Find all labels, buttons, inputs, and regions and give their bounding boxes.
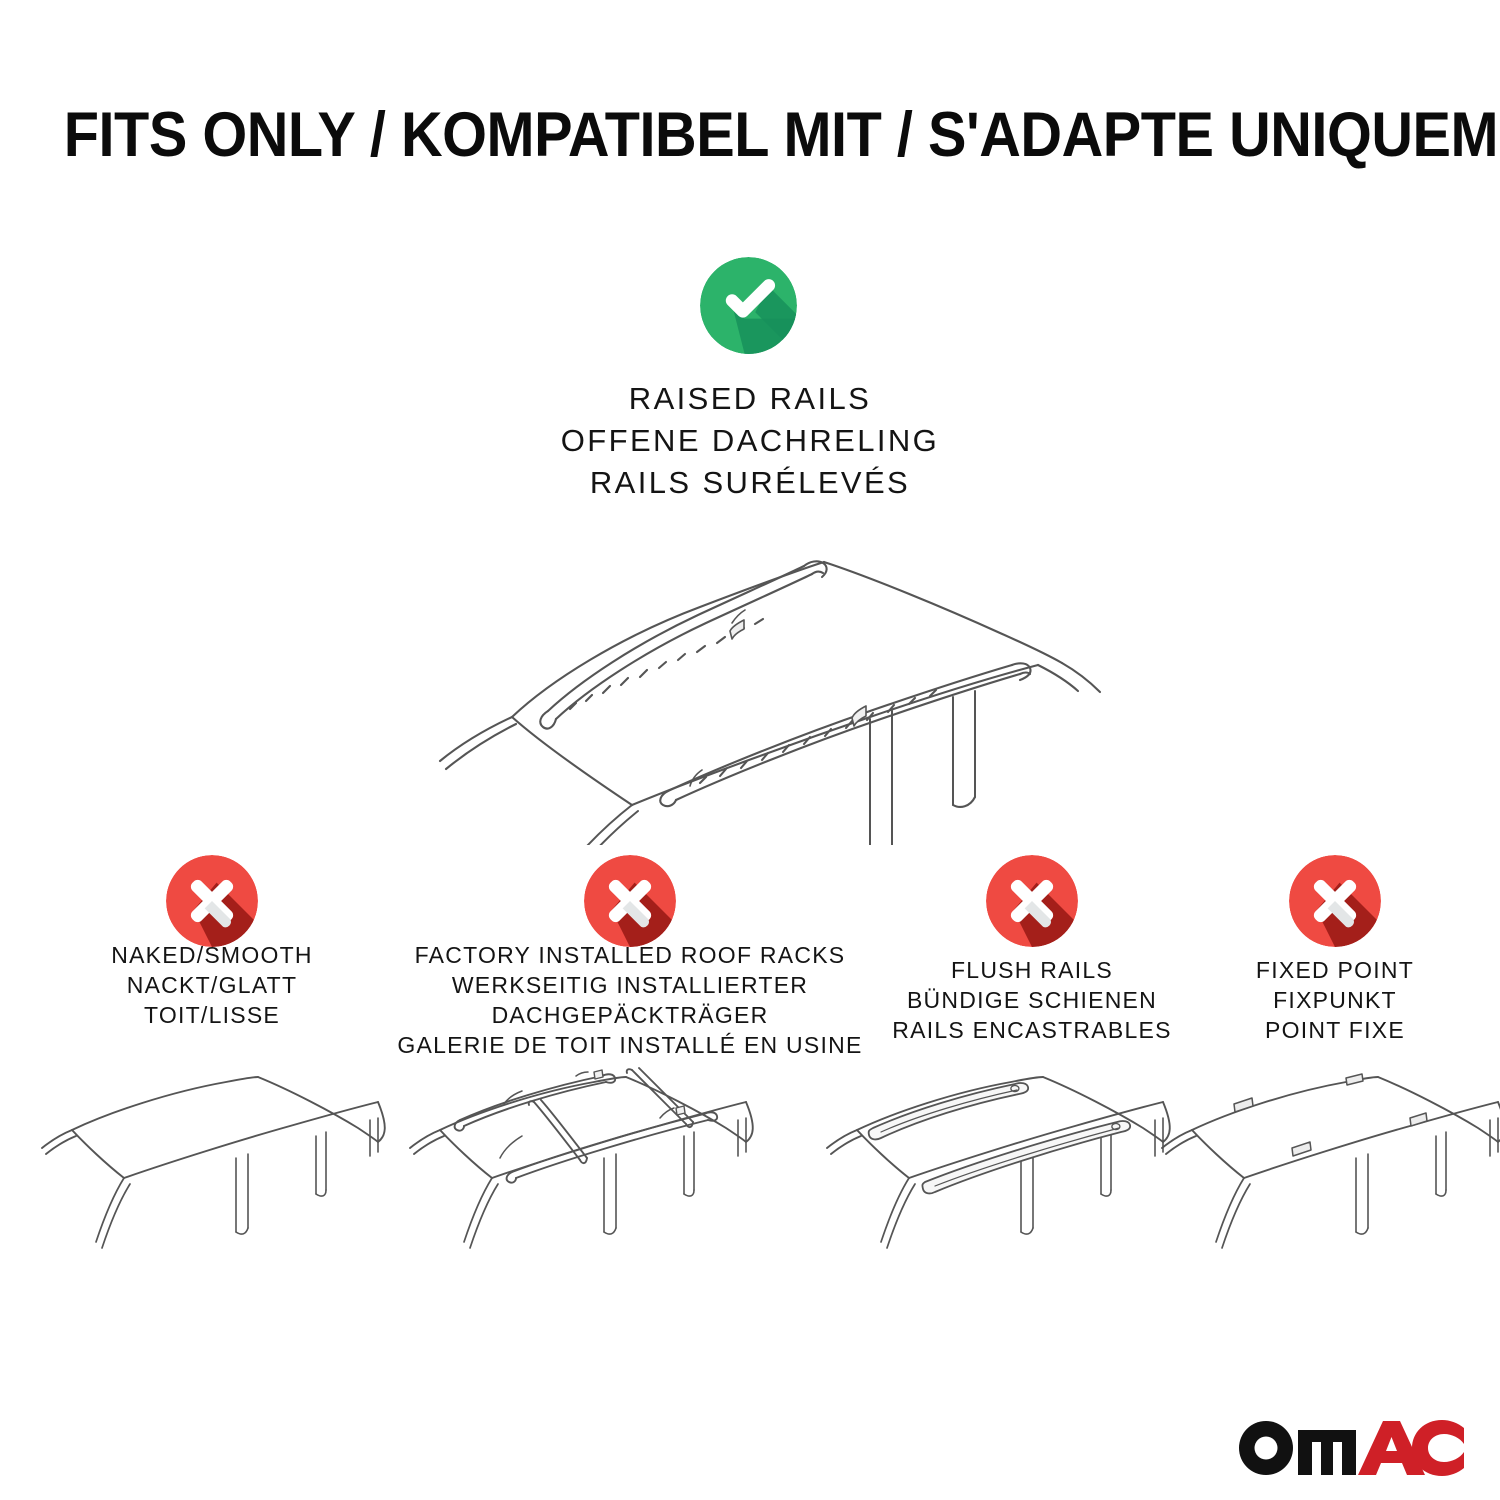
check-circle-icon [700,257,797,354]
car-roof-flush-rails-illustration [825,1060,1200,1300]
caption-line: RAISED RAILS [0,378,1500,420]
caption-line: TOIT/LISSE [22,1000,402,1030]
caption-line: RAILS SURÉLEVÉS [0,462,1500,504]
incompatible-caption-factory-racks: FACTORY INSTALLED ROOF RACKS WERKSEITIG … [380,940,880,1060]
caption-line: POINT FIXE [1175,1015,1495,1045]
car-roof-naked-smooth-illustration [40,1060,415,1300]
caption-line: NAKED/SMOOTH [22,940,402,970]
caption-line: RAILS ENCASTRABLES [862,1015,1202,1045]
caption-line: GALERIE DE TOIT INSTALLÉ EN USINE [380,1030,880,1060]
car-roof-fixed-point-illustration [1160,1060,1500,1300]
caption-line: NACKT/GLATT [22,970,402,1000]
caption-line: WERKSEITIG INSTALLIERTER [380,970,880,1000]
page-title: FITS ONLY / KOMPATIBEL MIT / S'ADAPTE UN… [64,104,1437,167]
cross-circle-icon [986,855,1078,947]
caption-line: BÜNDIGE SCHIENEN [862,985,1202,1015]
cross-circle-icon [584,855,676,947]
incompatible-caption-fixed-point: FIXED POINT FIXPUNKT POINT FIXE [1175,955,1495,1045]
cross-circle-icon [1289,855,1381,947]
caption-line: OFFENE DACHRELING [0,420,1500,462]
caption-line: FACTORY INSTALLED ROOF RACKS [380,940,880,970]
incompatible-caption-naked-smooth: NAKED/SMOOTH NACKT/GLATT TOIT/LISSE [22,940,402,1030]
caption-line: FIXPUNKT [1175,985,1495,1015]
car-roof-factory-racks-illustration [408,1060,783,1300]
compatible-caption: RAISED RAILS OFFENE DACHRELING RAILS SUR… [0,378,1500,504]
caption-line: DACHGEPÄCKTRÄGER [380,1000,880,1030]
caption-line: FLUSH RAILS [862,955,1202,985]
cross-circle-icon [166,855,258,947]
omac-logo [1232,1408,1464,1478]
car-roof-raised-rails-illustration [400,505,1110,845]
caption-line: FIXED POINT [1175,955,1495,985]
incompatible-caption-flush-rails: FLUSH RAILS BÜNDIGE SCHIENEN RAILS ENCAS… [862,955,1202,1045]
